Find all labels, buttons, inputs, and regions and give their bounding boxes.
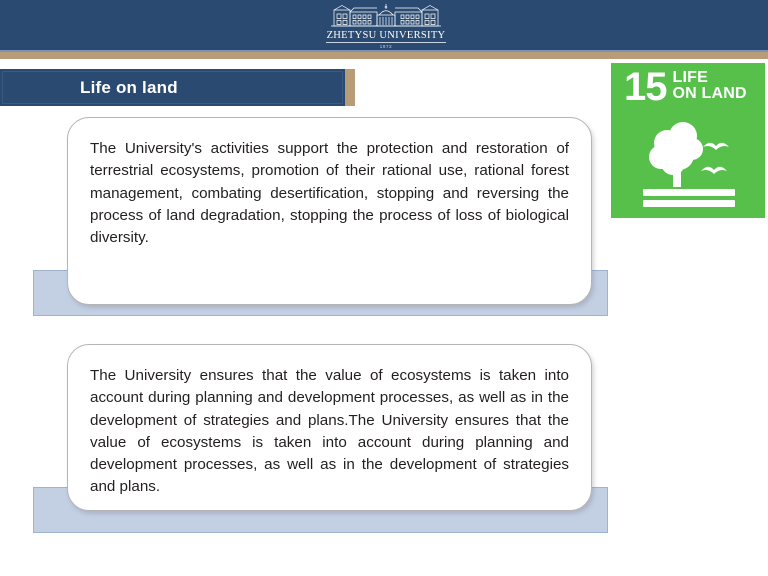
slide-root: ZHETYSU UNIVERSITY 1972 Life on land 15 …	[0, 0, 768, 576]
content-card-1-text: The University's activities support the …	[90, 138, 569, 249]
university-logo-rule	[326, 42, 446, 43]
header-gold-strip	[0, 52, 768, 59]
university-logo-year: 1972	[380, 44, 392, 50]
content-card-2: The University ensures that the value of…	[67, 344, 592, 511]
sdg-badge-line-1: LIFE	[673, 70, 747, 86]
slide-title-banner: Life on land	[0, 69, 345, 106]
university-logo-name: ZHETYSU UNIVERSITY	[327, 30, 446, 41]
content-card-2-text: The University ensures that the value of…	[90, 365, 569, 499]
title-gold-tab	[345, 69, 355, 106]
sdg-badge-words: LIFE ON LAND	[673, 70, 747, 102]
content-card-1: The University's activities support the …	[67, 117, 592, 305]
sdg-badge-line-2: ON LAND	[673, 86, 747, 102]
sdg-15-badge: 15 LIFE ON LAND	[611, 63, 765, 218]
sdg-badge-number: 15	[624, 69, 667, 105]
tree-and-birds-icon	[637, 119, 741, 211]
university-building-icon	[327, 3, 445, 30]
sdg-badge-heading: 15 LIFE ON LAND	[624, 69, 747, 105]
page-title: Life on land	[80, 78, 178, 98]
university-logo: ZHETYSU UNIVERSITY 1972	[318, 3, 454, 53]
